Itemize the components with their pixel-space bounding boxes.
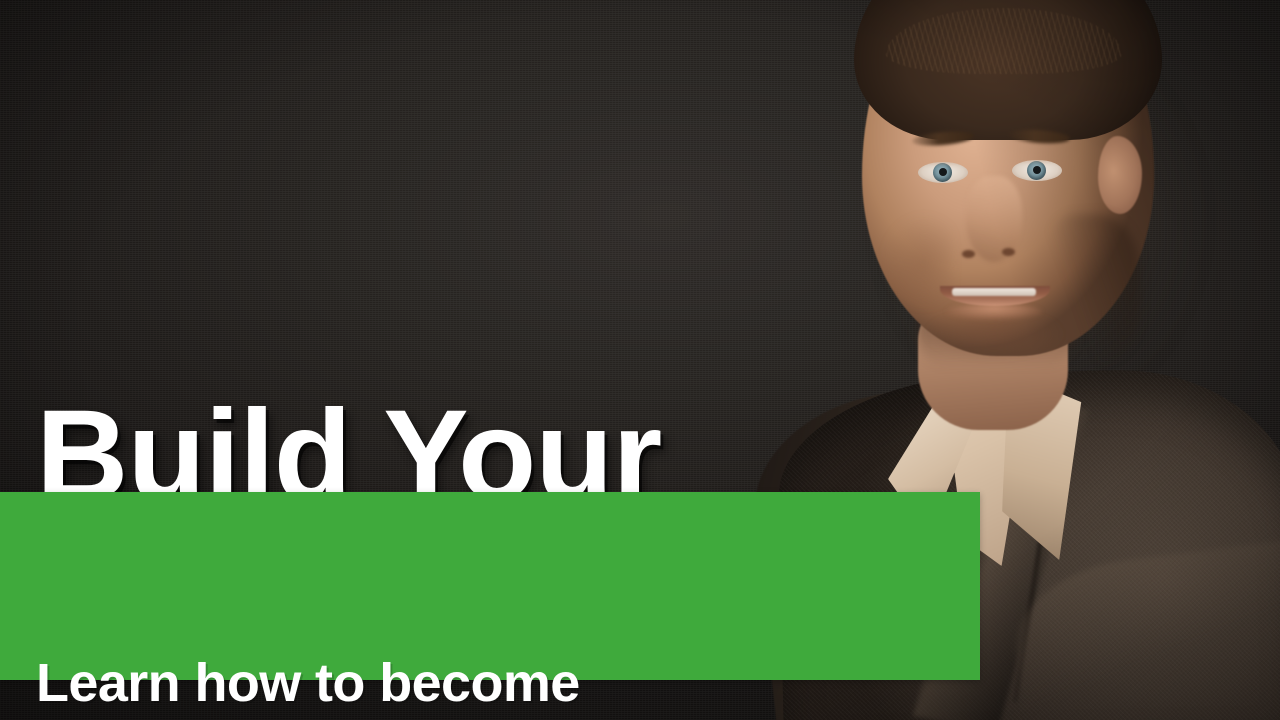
subtitle-banner: Learn how to become recognizable and mar… bbox=[0, 492, 980, 680]
thumbnail-canvas: Build Your EDU Brand Learn how to become… bbox=[0, 0, 1280, 720]
subtitle-text: Learn how to become recognizable and mar… bbox=[36, 516, 966, 720]
subtitle-line-1: Learn how to become bbox=[36, 650, 966, 717]
